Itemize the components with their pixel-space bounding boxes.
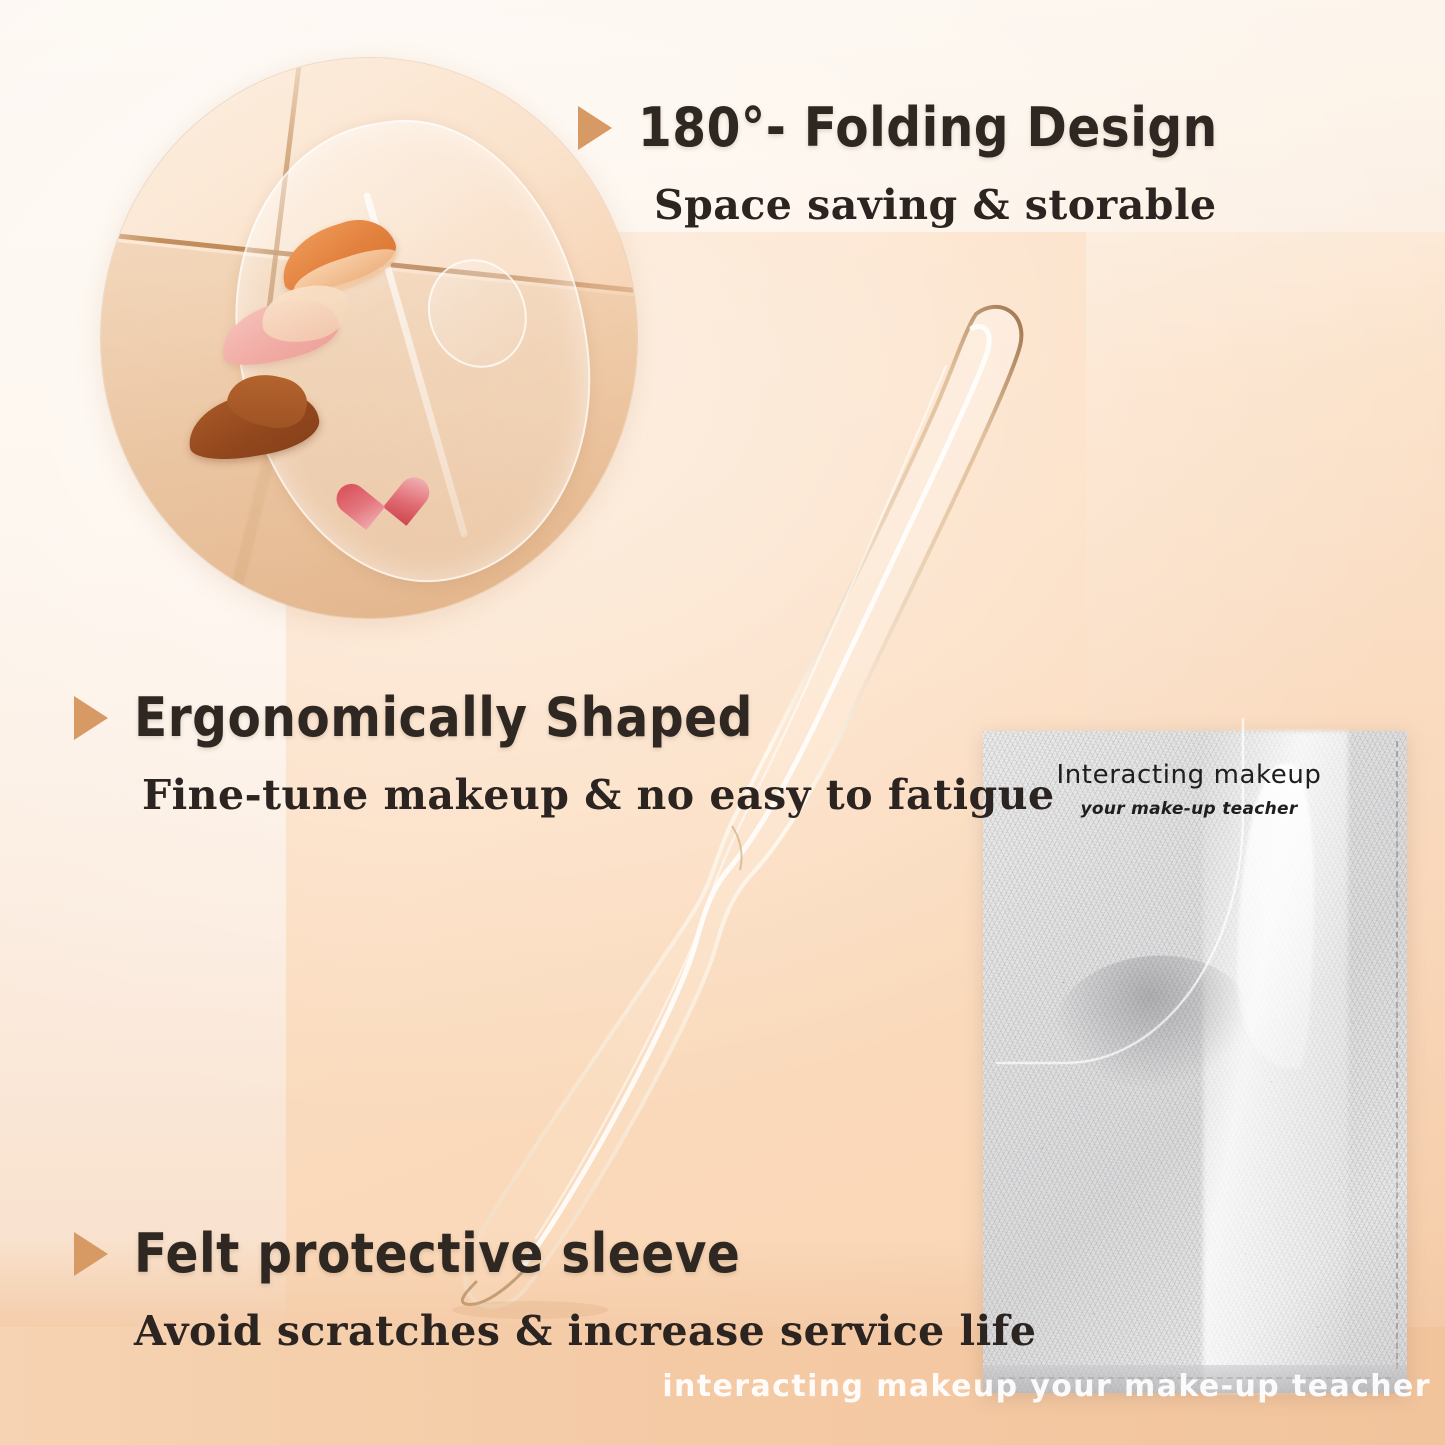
feature-title: Ergonomically Shaped	[134, 686, 753, 749]
feature-subtitle: Fine-tune makeup & no easy to fatigue	[142, 771, 1055, 819]
feature-title-row: Ergonomically Shaped	[74, 686, 1055, 749]
feature-block-ergonomic: Ergonomically Shaped Fine-tune makeup & …	[74, 686, 1055, 819]
feature-title-row: Felt protective sleeve	[74, 1222, 1036, 1285]
feature-title: 180°- Folding Design	[638, 96, 1218, 159]
felt-pouch: Interacting makeup your make-up teacher	[983, 731, 1407, 1393]
triangle-right-icon	[578, 106, 612, 150]
infographic-canvas: Interacting makeup your make-up teacher …	[0, 0, 1445, 1445]
feature-title-row: 180°- Folding Design	[578, 96, 1218, 159]
footer-bar: interacting makeup your make-up teacher	[0, 1327, 1445, 1445]
felt-stitch-right	[1396, 741, 1398, 1369]
feature-title: Felt protective sleeve	[134, 1222, 740, 1285]
pouch-brand-name: Interacting makeup	[1039, 761, 1339, 790]
feature-subtitle: Space saving & storable	[654, 181, 1218, 229]
pouch-tagline: your make-up teacher	[1055, 799, 1323, 819]
feature-block-folding: 180°- Folding Design Space saving & stor…	[578, 96, 1218, 229]
triangle-right-icon	[74, 696, 108, 740]
triangle-right-icon	[74, 1232, 108, 1276]
footer-brand-text: interacting makeup your make-up teacher	[662, 1369, 1431, 1404]
